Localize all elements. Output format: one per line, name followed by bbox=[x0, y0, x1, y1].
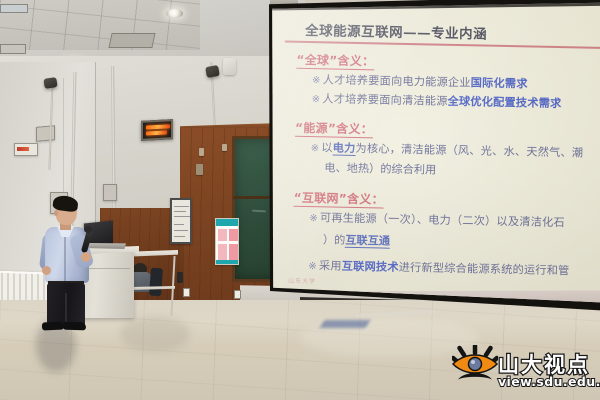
bullet-text: 可再生能源（一次）、电力（二次）以及清洁化石 bbox=[320, 211, 565, 229]
ceiling-downlight bbox=[166, 9, 183, 18]
wall-notice-frame bbox=[170, 198, 192, 244]
presenter bbox=[40, 196, 102, 331]
ceiling-vent bbox=[108, 33, 155, 48]
wall-speaker bbox=[223, 58, 236, 75]
bullet-marker: ※ bbox=[312, 75, 321, 86]
watermark-url: view.sdu.edu.cn bbox=[498, 374, 600, 389]
bullet-text: 人才培养要面向清洁能源 bbox=[322, 92, 448, 108]
slide-continuation: 电、地热）的综合利用 bbox=[324, 159, 436, 177]
slide-footer-mark: 山东大学 bbox=[288, 276, 316, 286]
slide-heading-global: “全球”含义： bbox=[296, 51, 374, 70]
ceiling-speaker bbox=[205, 65, 220, 78]
floor-reflection bbox=[120, 316, 190, 352]
watermark-logo: 山大视点 view.sdu.edu.cn bbox=[452, 343, 598, 395]
wall-hook bbox=[196, 164, 203, 175]
bullet-highlight: 电力 bbox=[333, 142, 356, 156]
bullet-marker: ※ bbox=[308, 261, 317, 272]
bullet-text: 以 bbox=[321, 141, 333, 154]
floor-mat bbox=[320, 320, 371, 328]
slide-heading-internet: “互联网”含义： bbox=[294, 189, 385, 208]
wall-bracket bbox=[36, 125, 55, 142]
slide-bullet: ※以电力为核心，清洁能源（风、光、水、天然气、潮 bbox=[311, 139, 584, 160]
bullet-marker: ※ bbox=[309, 213, 318, 224]
chair bbox=[149, 268, 163, 297]
shirt-placket bbox=[64, 234, 66, 281]
continuation-highlight: 互联互通 bbox=[345, 234, 390, 249]
wall-poster bbox=[215, 218, 239, 265]
projection-screen: 全球能源互联网——专业内涵 “全球”含义： ※人才培养要面向电力能源企业国际化需… bbox=[261, 0, 600, 317]
power-outlet[interactable] bbox=[183, 288, 190, 297]
presenter-hand bbox=[81, 252, 91, 262]
bullet-text: 为核心，清洁能源（风、光、水、天然气、潮 bbox=[355, 142, 583, 160]
slide-bullet: ※采用互联网技术进行新型综合能源系统的运行和管 bbox=[308, 257, 569, 278]
bullet-marker: ※ bbox=[311, 143, 320, 154]
ceiling-speaker bbox=[43, 77, 57, 89]
led-text-row bbox=[146, 124, 170, 129]
slide-bullet: ※可再生能源（一次）、电力（二次）以及清洁化石 bbox=[309, 209, 565, 230]
presenter-shoe bbox=[42, 321, 64, 330]
slide-heading-energy: “能源”含义： bbox=[295, 119, 373, 138]
bullet-marker: ※ bbox=[312, 94, 321, 105]
slide-title-rule bbox=[285, 41, 600, 49]
slide-continuation: ）的互联互通 bbox=[323, 231, 390, 248]
presenter-hand bbox=[42, 266, 51, 275]
lecture-hall-photo: 全球能源互联网——专业内涵 “全球”含义： ※人才培养要面向电力能源企业国际化需… bbox=[0, 0, 600, 400]
bullet-highlight: 互联网技术 bbox=[342, 260, 399, 274]
ceiling-tile-grid bbox=[0, 0, 200, 50]
led-display-sign bbox=[141, 119, 173, 141]
screen-surface: 全球能源互联网——专业内涵 “全球”含义： ※人才培养要面向电力能源企业国际化需… bbox=[267, 1, 600, 310]
wall-junction-box bbox=[103, 184, 117, 201]
presenter-shoe bbox=[63, 322, 86, 331]
continuation-text: ）的 bbox=[323, 233, 346, 246]
bullet-text: 进行新型综合能源系统的运行和管 bbox=[399, 261, 570, 277]
ceiling-vent bbox=[0, 44, 26, 54]
wall-hook bbox=[222, 144, 227, 151]
eye-icon bbox=[452, 345, 498, 381]
led-text-row bbox=[146, 130, 167, 135]
bullet-text: 采用 bbox=[319, 259, 342, 272]
slide-title: 全球能源互联网——专业内涵 bbox=[305, 19, 487, 43]
power-outlet[interactable] bbox=[234, 290, 241, 299]
bullet-highlight: 全球优化配置技术需求 bbox=[447, 95, 561, 110]
presentation-slide: 全球能源互联网——专业内涵 “全球”含义： ※人才培养要面向电力能源企业国际化需… bbox=[277, 11, 600, 311]
slide-bullet: ※人才培养要面向清洁能源全球优化配置技术需求 bbox=[312, 90, 562, 111]
microphone-head bbox=[84, 226, 92, 233]
presenter-ear bbox=[54, 210, 58, 216]
wall-sensor bbox=[177, 272, 183, 283]
bullet-highlight: 国际化需求 bbox=[471, 76, 528, 90]
bullet-text: 人才培养要面向电力能源企业 bbox=[323, 73, 471, 89]
wall-control-box[interactable] bbox=[14, 143, 38, 156]
wall-hook bbox=[199, 148, 204, 156]
ceiling-vent bbox=[0, 4, 28, 13]
slide-bullet: ※人才培养要面向电力能源企业国际化需求 bbox=[312, 71, 528, 91]
